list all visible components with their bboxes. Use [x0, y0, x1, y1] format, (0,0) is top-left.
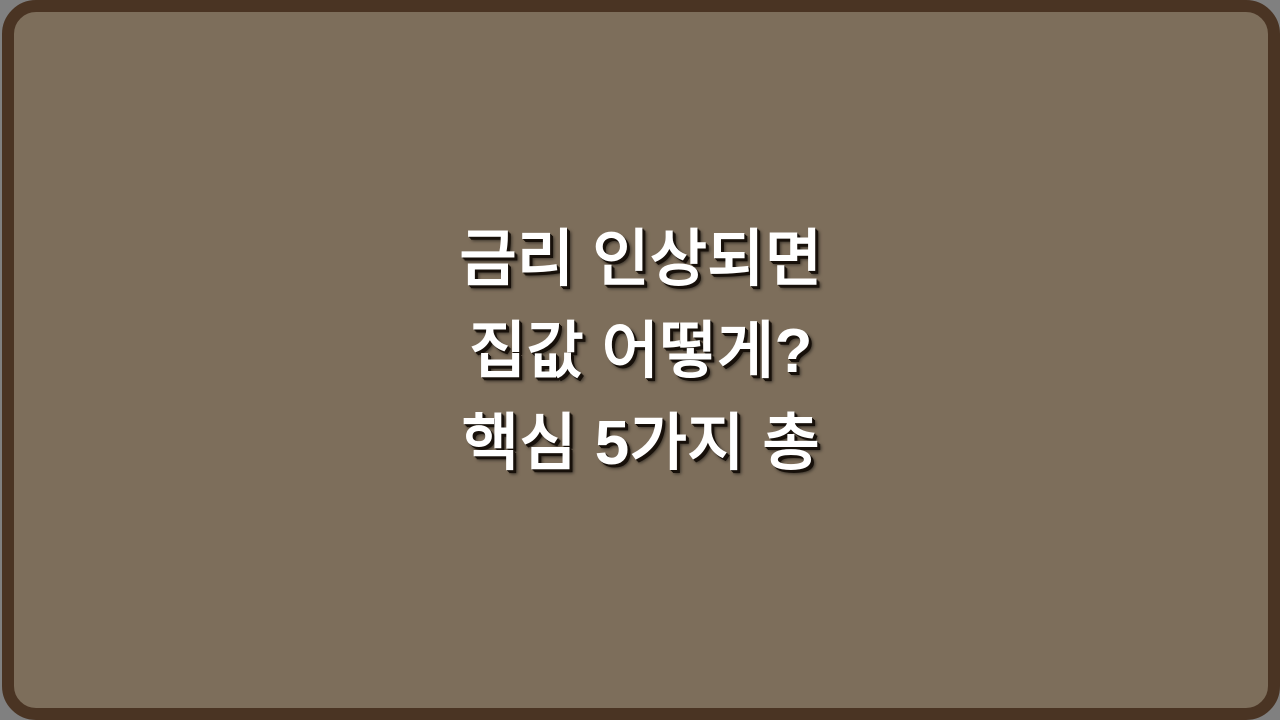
headline-block: 금리 인상되면 집값 어떻게? 핵심 5가지 총: [14, 214, 1268, 490]
headline-line-3: 핵심 5가지 총: [54, 398, 1228, 490]
headline-line-2: 집값 어떻게?: [54, 306, 1228, 398]
thumbnail-stage: 금리 인상되면 집값 어떻게? 핵심 5가지 총: [0, 0, 1280, 720]
thumbnail-card: 금리 인상되면 집값 어떻게? 핵심 5가지 총: [2, 0, 1280, 720]
headline-line-1: 금리 인상되면: [54, 214, 1228, 306]
